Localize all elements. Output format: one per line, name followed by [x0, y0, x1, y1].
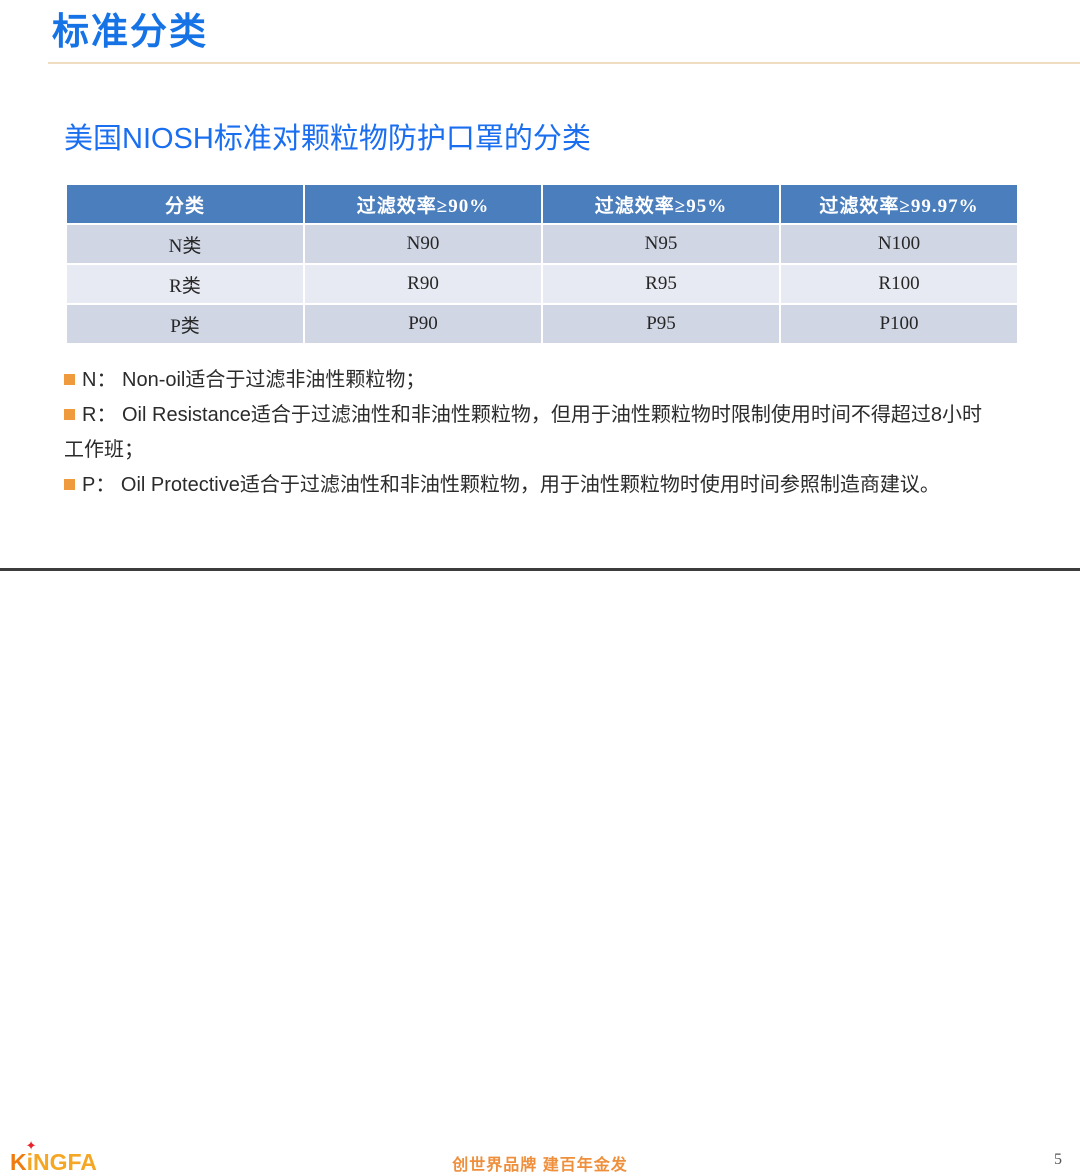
note-item-r: R： Oil Resistance适合于过滤油性和非油性颗粒物，但用于油性颗粒物… — [64, 398, 999, 468]
cell-eff-95: N95 — [543, 225, 779, 263]
cell-eff-90: R90 — [305, 265, 541, 303]
page-title: 标准分类 — [52, 8, 208, 56]
cell-category: R类 — [67, 265, 303, 303]
cell-eff-90: N90 — [305, 225, 541, 263]
sparkle-icon: ✦ — [26, 1142, 34, 1150]
page-number: 5 — [1054, 1151, 1062, 1169]
notes-list: N： Non-oil适合于过滤非油性颗粒物； R： Oil Resistance… — [64, 363, 999, 503]
footer-tagline: 创世界品牌 建百年金发 — [0, 1151, 1080, 1175]
column-header-eff-90: 过滤效率≥90% — [305, 185, 541, 223]
cell-eff-95: R95 — [543, 265, 779, 303]
note-item-p-label: P： Oil Protective适合于过滤油性和非油性颗粒物，用于油性颗粒物时… — [82, 474, 940, 496]
cell-eff-95: P95 — [543, 305, 779, 343]
cell-eff-90: P90 — [305, 305, 541, 343]
table-header-row: 分类 过滤效率≥90% 过滤效率≥95% 过滤效率≥99.97% — [67, 185, 1017, 223]
cell-category: P类 — [67, 305, 303, 343]
column-header-category: 分类 — [67, 185, 303, 223]
table-row: N类 N90 N95 N100 — [67, 225, 1017, 263]
section-subtitle: 美国NIOSH标准对颗粒物防护口罩的分类 — [64, 119, 591, 159]
note-item-n-label: N： Non-oil适合于过滤非油性颗粒物； — [82, 369, 425, 391]
column-header-eff-9997: 过滤效率≥99.97% — [781, 185, 1017, 223]
square-bullet-icon — [64, 409, 75, 420]
square-bullet-icon — [64, 479, 75, 490]
table-row: R类 R90 R95 R100 — [67, 265, 1017, 303]
column-header-eff-95: 过滤效率≥95% — [543, 185, 779, 223]
table-row: P类 P90 P95 P100 — [67, 305, 1017, 343]
cell-eff-9997: P100 — [781, 305, 1017, 343]
classification-table: 分类 过滤效率≥90% 过滤效率≥95% 过滤效率≥99.97% N类 N90 … — [65, 183, 1019, 345]
cell-category: N类 — [67, 225, 303, 263]
note-item-p: P： Oil Protective适合于过滤油性和非油性颗粒物，用于油性颗粒物时… — [64, 468, 999, 503]
square-bullet-icon — [64, 374, 75, 385]
cell-eff-9997: N100 — [781, 225, 1017, 263]
cell-eff-9997: R100 — [781, 265, 1017, 303]
note-item-r-label: R： Oil Resistance适合于过滤油性和非油性颗粒物，但用于油性颗粒物… — [64, 404, 982, 461]
footer: K✦iNGFA 创世界品牌 建百年金发 5 — [0, 571, 1080, 607]
note-item-n: N： Non-oil适合于过滤非油性颗粒物； — [64, 363, 999, 398]
title-divider — [48, 62, 1080, 64]
